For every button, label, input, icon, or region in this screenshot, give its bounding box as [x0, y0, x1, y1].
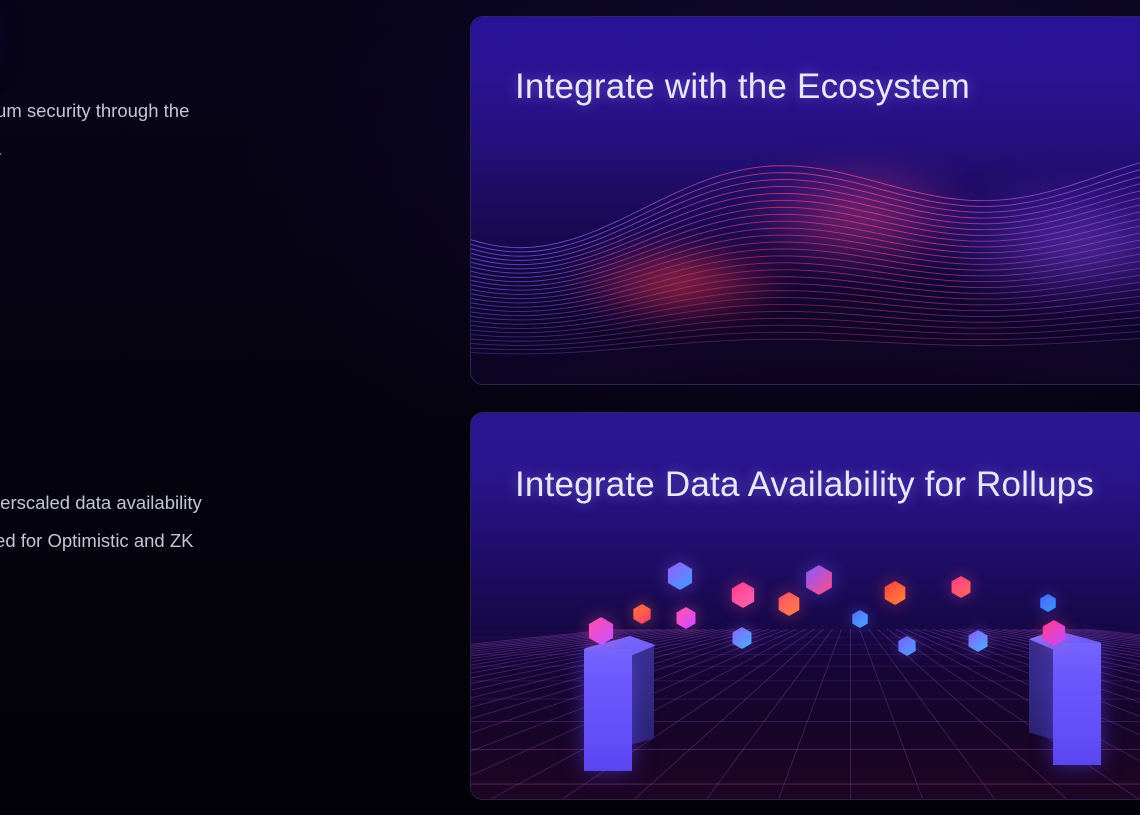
feature-eigenlayer: ayer o leverage Ethereum security throug…	[0, 10, 450, 168]
feature-heading-row: DA	[0, 402, 450, 458]
feature-column: ayer o leverage Ethereum security throug…	[0, 0, 450, 815]
feature-body-eigenda: tomizable and hyperscaled data availabil…	[0, 484, 450, 560]
hexagon-node	[777, 592, 801, 616]
hexagon-node	[851, 610, 869, 628]
hexagon-node	[1039, 594, 1057, 612]
hexagon-node	[950, 576, 972, 598]
pillar-front-face	[584, 649, 632, 771]
hexagon-node	[675, 607, 697, 629]
wave-lines-svg	[471, 120, 1140, 384]
feature-heading-row: ayer	[0, 10, 450, 66]
pillar-front-face	[1053, 643, 1101, 765]
left-pillar	[584, 649, 632, 771]
hexagon-node	[730, 582, 756, 608]
page-root: ayer o leverage Ethereum security throug…	[0, 0, 1140, 815]
feature-eigenda: DA tomizable and hyperscaled data availa…	[0, 402, 450, 560]
right-pillar	[1031, 643, 1079, 765]
hexagon-node	[883, 581, 907, 605]
hexagon-node	[632, 604, 652, 624]
card-title-ecosystem: Integrate with the Ecosystem	[515, 67, 1140, 107]
hexagon-node	[666, 562, 694, 590]
card-integrate-with-ecosystem[interactable]: Integrate with the Ecosystem	[470, 16, 1140, 385]
card-title-data-availability: Integrate Data Availability for Rollups	[515, 465, 1140, 505]
hexagon-node	[804, 565, 834, 595]
feature-body-eigenlayer: o leverage Ethereum security through the…	[0, 92, 450, 168]
card-integrate-data-availability[interactable]: Integrate Data Availability for Rollups	[470, 412, 1140, 800]
